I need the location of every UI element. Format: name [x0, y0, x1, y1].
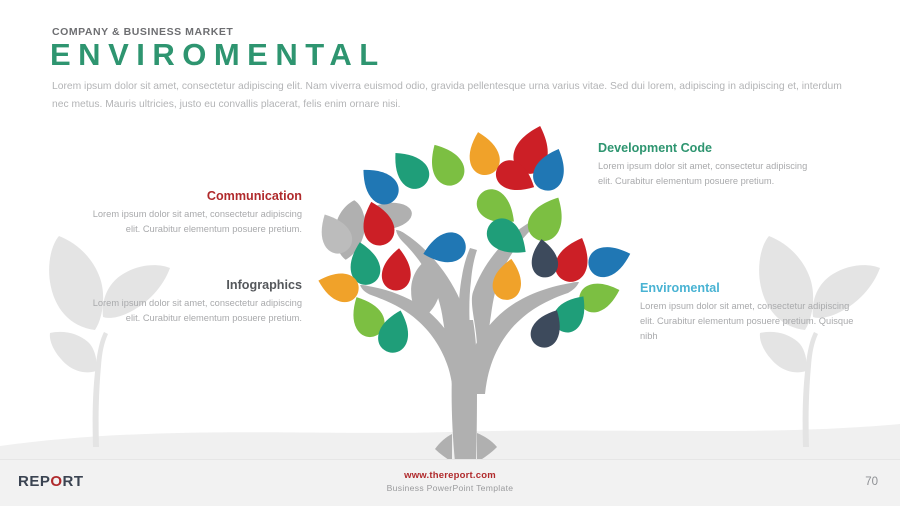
- callout-body: Lorem ipsum dolor sit amet, consectetur …: [598, 159, 810, 189]
- slide-footer: REPORT www.thereport.com Business PowerP…: [0, 459, 900, 506]
- slide-illustration: [0, 0, 900, 506]
- callout-title: Enviromental: [640, 280, 858, 297]
- footer-subtitle: Business PowerPoint Template: [0, 483, 900, 493]
- callout-body: Lorem ipsum dolor sit amet, consectetur …: [640, 299, 858, 344]
- callout-title: Communication: [90, 188, 302, 205]
- callout-body: Lorem ipsum dolor sit amet, consectetur …: [90, 207, 302, 237]
- callout-body: Lorem ipsum dolor sit amet, consectetur …: [90, 296, 302, 326]
- footer-center: www.thereport.com Business PowerPoint Te…: [0, 470, 900, 493]
- sprout-left-icon: [49, 236, 170, 447]
- intro-paragraph: Lorem ipsum dolor sit amet, consectetur …: [52, 78, 852, 113]
- leaf-lime: [522, 190, 572, 247]
- footer-url-link[interactable]: www.thereport.com: [0, 470, 900, 481]
- leaf-lime: [421, 137, 470, 191]
- callout-development-code[interactable]: Development Code Lorem ipsum dolor sit a…: [598, 140, 810, 189]
- leaf-navy: [528, 237, 559, 279]
- slide: COMPANY & BUSINESS MARKET ENVIROMENTAL L…: [0, 0, 900, 506]
- callout-title: Development Code: [598, 140, 810, 157]
- page-title: ENVIROMENTAL: [50, 38, 386, 72]
- leaf-blue: [585, 240, 635, 281]
- page-number: 70: [865, 476, 878, 488]
- callout-communication[interactable]: Communication Lorem ipsum dolor sit amet…: [90, 188, 302, 237]
- callout-infographics[interactable]: Infographics Lorem ipsum dolor sit amet,…: [90, 277, 302, 326]
- callout-enviromental[interactable]: Enviromental Lorem ipsum dolor sit amet,…: [640, 280, 858, 344]
- callout-title: Infographics: [90, 277, 302, 294]
- leaf-red: [380, 247, 413, 292]
